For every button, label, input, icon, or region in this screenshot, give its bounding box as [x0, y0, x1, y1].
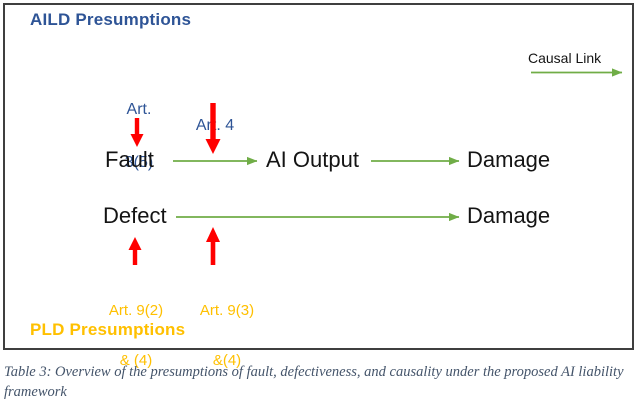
annotation-art-9-2-line1: Art. 9(2) [90, 303, 182, 320]
legend-causal-link-label: Causal Link [528, 51, 601, 66]
figure-root: AILD Presumptions PLD Presumptions Art. … [0, 0, 640, 406]
aild-section-title: AILD Presumptions [30, 11, 191, 30]
node-ai-output: AI Output [266, 148, 359, 172]
node-damage-top: Damage [467, 148, 550, 172]
node-defect: Defect [103, 204, 167, 228]
node-damage-bottom: Damage [467, 204, 550, 228]
annotation-art-3-5-line1: Art. [113, 101, 165, 119]
annotation-art-9-3-line1: Art. 9(3) [182, 303, 272, 320]
annotation-art-4: Art. 4 [186, 82, 244, 170]
figure-caption: Table 3: Overview of the presumptions of… [4, 362, 632, 402]
node-fault: Fault [105, 148, 154, 172]
annotation-art-4-line1: Art. 4 [186, 117, 244, 135]
annotation-art-3-5: Art. 3(5) [113, 66, 165, 207]
